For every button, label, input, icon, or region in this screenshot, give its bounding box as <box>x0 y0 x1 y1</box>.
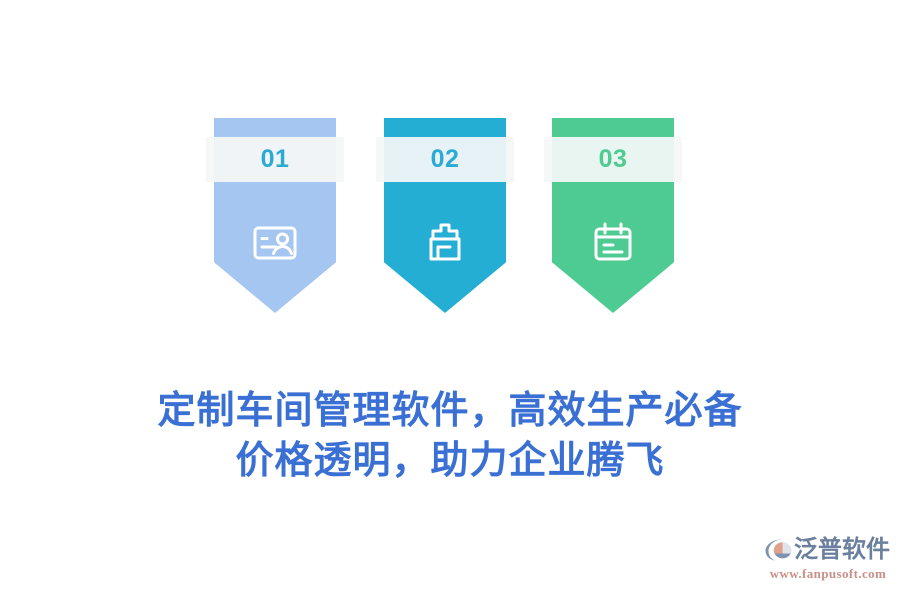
poster-canvas: 01 02 <box>0 0 900 600</box>
headline: 定制车间管理软件，高效生产必备 价格透明，助力企业腾飞 <box>0 386 900 486</box>
calendar-note-icon <box>552 213 674 273</box>
headline-line-2: 价格透明，助力企业腾飞 <box>0 436 900 486</box>
logo-top-row: 泛普软件 <box>762 534 894 566</box>
storefront-icon <box>384 213 506 273</box>
banner-number-band: 02 <box>376 137 514 182</box>
logo-url: www.fanpusoft.com <box>762 566 894 582</box>
banner-number-03: 03 <box>552 137 674 182</box>
fanpu-swoosh-icon <box>762 535 792 565</box>
logo-name: 泛普软件 <box>794 535 890 565</box>
brand-logo[interactable]: 泛普软件 www.fanpusoft.com <box>762 534 894 586</box>
banner-row: 01 02 <box>0 118 900 318</box>
banner-number-band: 03 <box>544 137 682 182</box>
banner-card-01[interactable]: 01 <box>214 118 336 313</box>
banner-number-02: 02 <box>384 137 506 182</box>
contact-card-icon <box>214 213 336 273</box>
headline-line-1: 定制车间管理软件，高效生产必备 <box>0 386 900 436</box>
banner-number-band: 01 <box>206 137 344 182</box>
banner-number-01: 01 <box>214 137 336 182</box>
banner-card-02[interactable]: 02 <box>384 118 506 313</box>
banner-card-03[interactable]: 03 <box>552 118 674 313</box>
